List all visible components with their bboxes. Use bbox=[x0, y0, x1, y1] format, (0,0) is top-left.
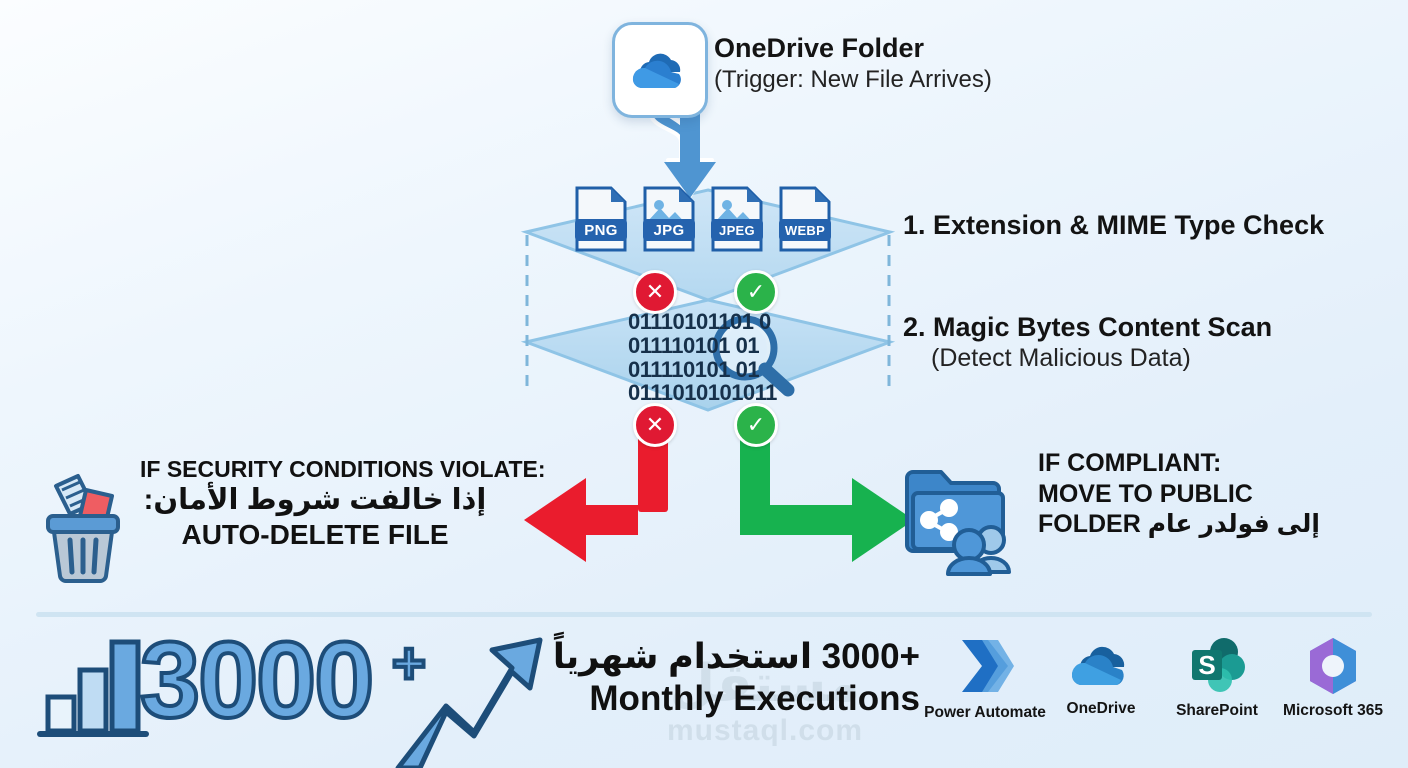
onedrive-trigger-tile bbox=[612, 22, 708, 118]
outcome-left-line-arabic: إذا خالفت شروط الأمان: bbox=[140, 483, 490, 518]
trigger-subtitle: (Trigger: New File Arrives) bbox=[714, 66, 1134, 95]
file-badge: PNG bbox=[573, 185, 629, 253]
stats-plus-sign: + bbox=[392, 630, 426, 697]
onedrive-cloud-icon bbox=[629, 48, 691, 92]
file-badge-label: JPG bbox=[643, 219, 695, 241]
svg-text:S: S bbox=[1198, 650, 1215, 680]
file-badge: JPEG bbox=[709, 185, 765, 253]
binary-row: 011110101 01 bbox=[628, 358, 788, 382]
file-badge: WEBP bbox=[777, 185, 833, 253]
file-badge-label: WEBP bbox=[779, 219, 831, 241]
outcome-right-line-2: MOVE TO PUBLIC bbox=[1038, 479, 1378, 510]
outcome-right-line-1: IF COMPLIANT: bbox=[1038, 448, 1378, 479]
step-2-label: 2. Magic Bytes Content Scan (Detect Mali… bbox=[903, 312, 1383, 373]
logo-onedrive: OneDrive bbox=[1046, 636, 1156, 756]
shared-folder-icon bbox=[893, 448, 1023, 578]
logo-label: Power Automate bbox=[924, 704, 1046, 722]
step-1-label: 1. Extension & MIME Type Check bbox=[903, 210, 1383, 241]
reject-marker: ✕ bbox=[633, 270, 677, 314]
onedrive-icon bbox=[1068, 636, 1134, 694]
microsoft-365-icon bbox=[1302, 636, 1364, 696]
accept-marker: ✓ bbox=[734, 403, 778, 447]
trash-bin-icon bbox=[28, 468, 138, 583]
step-1-title: 1. Extension & MIME Type Check bbox=[903, 210, 1383, 241]
outcome-left-text: IF SECURITY CONDITIONS VIOLATE: إذا خالف… bbox=[140, 455, 490, 553]
section-divider bbox=[36, 612, 1372, 617]
red-elbow-arrow-left bbox=[524, 432, 668, 562]
binary-row: 0111010101011 bbox=[628, 381, 788, 405]
file-type-row: PNG JPG JPEG WEBP bbox=[573, 185, 843, 255]
power-automate-icon bbox=[956, 636, 1014, 698]
binary-row: 011110101 01 bbox=[628, 334, 788, 358]
step-2-subtitle: (Detect Malicious Data) bbox=[903, 343, 1383, 373]
bar-chart-icon bbox=[40, 642, 146, 734]
trigger-title: OneDrive Folder bbox=[714, 33, 1134, 64]
logo-label: Microsoft 365 bbox=[1283, 702, 1383, 720]
file-badge: JPG bbox=[641, 185, 697, 253]
infographic-canvas: OneDrive Folder (Trigger: New File Arriv… bbox=[0, 0, 1408, 768]
stats-arabic-line: +3000 استخدام شهرياً bbox=[520, 636, 920, 678]
reject-marker: ✕ bbox=[633, 403, 677, 447]
logo-microsoft-365: Microsoft 365 bbox=[1278, 636, 1388, 756]
binary-data-block: 01110101101 0 011110101 01 011110101 01 … bbox=[628, 310, 788, 405]
logo-power-automate: Power Automate bbox=[930, 636, 1040, 756]
sharepoint-icon: S bbox=[1186, 636, 1248, 696]
logo-sharepoint: S SharePoint bbox=[1162, 636, 1272, 756]
file-badge-label: PNG bbox=[575, 219, 627, 241]
file-badge-label: JPEG bbox=[711, 219, 763, 241]
step-2-title: 2. Magic Bytes Content Scan bbox=[903, 312, 1383, 343]
accept-marker: ✓ bbox=[734, 270, 778, 314]
outcome-right-text: IF COMPLIANT: MOVE TO PUBLIC FOLDER إلى … bbox=[1038, 448, 1378, 540]
stats-text-block: +3000 استخدام شهرياً Monthly Executions bbox=[520, 636, 920, 720]
logo-label: OneDrive bbox=[1067, 700, 1136, 718]
outcome-right-line-3: FOLDER إلى فولدر عام bbox=[1038, 509, 1378, 540]
stats-english-line: Monthly Executions bbox=[520, 678, 920, 720]
outcome-left-line-1: IF SECURITY CONDITIONS VIOLATE: bbox=[140, 455, 490, 483]
product-logo-row: Power Automate OneDrive S SharePoint bbox=[930, 636, 1390, 756]
trigger-text-block: OneDrive Folder (Trigger: New File Arriv… bbox=[714, 33, 1134, 95]
logo-label: SharePoint bbox=[1176, 702, 1258, 720]
stats-number: 3000 bbox=[140, 626, 372, 734]
outcome-left-line-3: AUTO-DELETE FILE bbox=[140, 518, 490, 552]
green-elbow-arrow-right bbox=[740, 432, 914, 562]
